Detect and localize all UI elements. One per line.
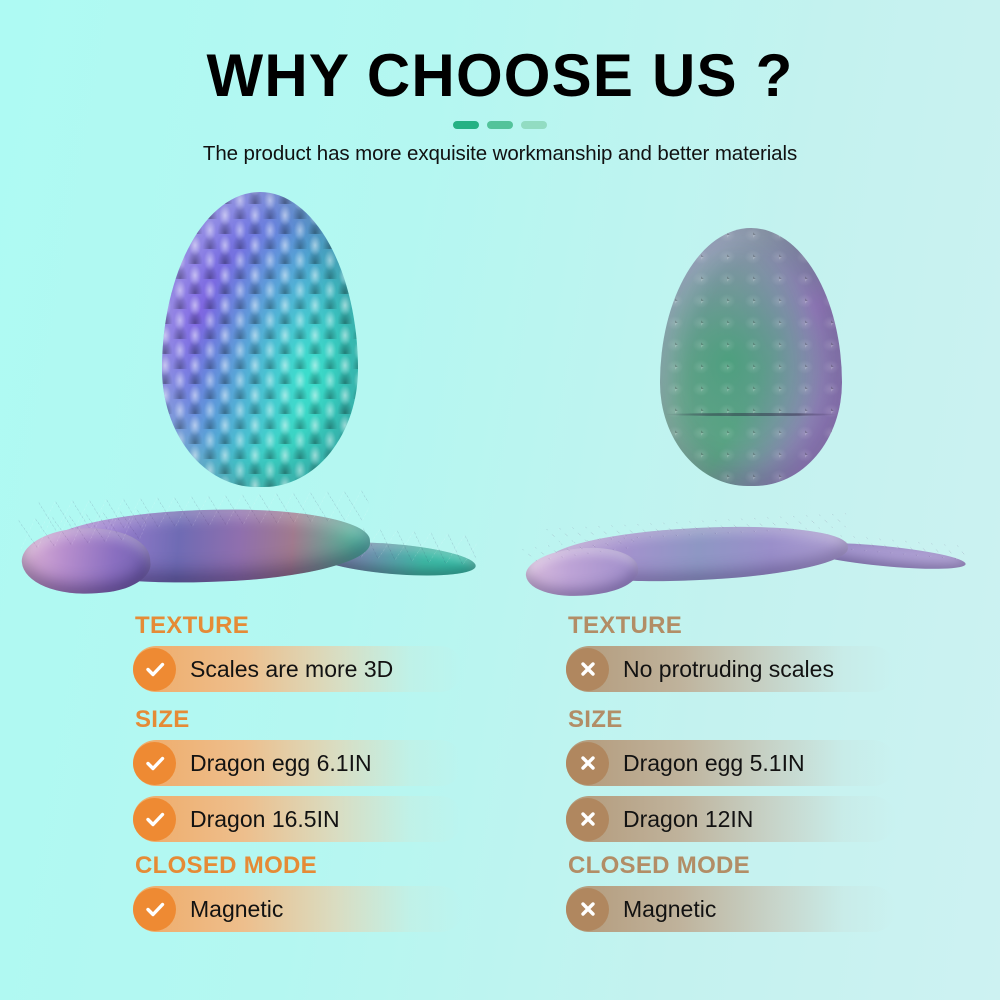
feature-label: No protruding scales [623,656,834,683]
comparison-columns: TEXTURE Scales are more 3D SIZE Dragon e… [0,612,1000,942]
feature-label: Dragon 16.5IN [190,806,340,833]
row-highlight [133,886,463,932]
check-icon [133,648,176,691]
feature-row: No protruding scales [546,646,926,692]
feature-row: Dragon 16.5IN [113,796,493,842]
feature-row: Dragon 12IN [546,796,926,842]
feature-row: Scales are more 3D [113,646,493,692]
feature-row: Dragon egg 5.1IN [546,740,926,786]
dragon-head [19,523,152,600]
cross-icon [566,648,609,691]
flat-scale-texture [660,228,842,486]
feature-label: Dragon egg 5.1IN [623,750,805,777]
feature-label: Scales are more 3D [190,656,393,683]
feature-label: Dragon egg 6.1IN [190,750,372,777]
dragon-egg-left-image [162,192,358,487]
check-icon [133,888,176,931]
feature-label: Magnetic [623,896,716,923]
category-label-closed-mode: CLOSED MODE [568,852,1000,880]
page-subtitle: The product has more exquisite workmansh… [0,142,1000,166]
divider-dash-1 [453,121,479,129]
head-spikes [18,509,148,550]
category-label-texture: TEXTURE [568,612,1000,640]
category-label-size: SIZE [568,706,1000,734]
product-image-right [500,180,1000,600]
dragon-egg-right-image [660,228,842,486]
category-label-texture: TEXTURE [135,612,500,640]
divider-dash-3 [521,121,547,129]
cross-icon [566,798,609,841]
comparison-column-others: TEXTURE No protruding scales SIZE Dragon… [500,612,1000,942]
cross-icon [566,742,609,785]
check-icon [133,742,176,785]
category-label-size: SIZE [135,706,500,734]
header: WHY CHOOSE US ? The product has more exq… [0,0,1000,166]
cross-icon [566,888,609,931]
feature-label: Dragon 12IN [623,806,753,833]
comparison-column-ours: TEXTURE Scales are more 3D SIZE Dragon e… [0,612,500,942]
category-label-closed-mode: CLOSED MODE [135,852,500,880]
dragon-figure-left-image [10,470,480,600]
divider-dashes [0,121,1000,129]
protruding-scale-texture [162,192,358,487]
dragon-figure-right-image [520,480,970,600]
product-image-area [0,180,1000,600]
divider-dash-2 [487,121,513,129]
feature-row: Magnetic [546,886,926,932]
feature-label: Magnetic [190,896,283,923]
product-image-left [0,180,500,600]
row-highlight [566,886,896,932]
check-icon [133,798,176,841]
feature-row: Magnetic [113,886,493,932]
page-title: WHY CHOOSE US ? [0,44,1000,107]
feature-row: Dragon egg 6.1IN [113,740,493,786]
